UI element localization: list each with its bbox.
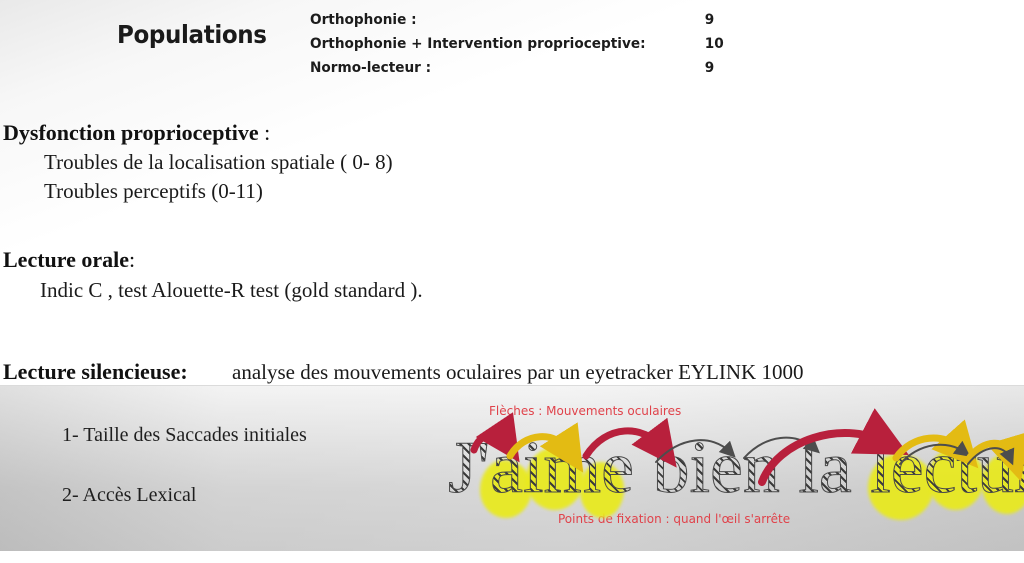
eyetracking-illustration: J'aime bien la lecture J'aime bien la le… [448, 418, 1024, 518]
population-label: Orthophonie : [310, 8, 417, 32]
population-value: 9 [705, 8, 714, 32]
section-heading-dysfonction: Dysfonction proprioceptive : [3, 120, 270, 146]
saccade-arrow-red [586, 431, 662, 456]
population-value: 10 [705, 32, 724, 56]
populations-table: Orthophonie : 9 Orthophonie + Interventi… [310, 8, 646, 80]
annotation-saccades: Flèches : Mouvements oculaires [489, 403, 681, 418]
list-item: Troubles de la localisation spatiale ( 0… [44, 150, 393, 175]
table-row: Normo-lecteur : 9 [310, 56, 646, 80]
list-item: Troubles perceptifs (0-11) [44, 179, 263, 204]
table-row: Orthophonie + Intervention proprioceptiv… [310, 32, 646, 56]
population-value: 9 [705, 56, 714, 80]
slide-canvas: Populations Orthophonie : 9 Orthophonie … [0, 0, 1024, 563]
saccade-arrows-layer [448, 418, 1024, 518]
list-item: Indic C , test Alouette-R test (gold sta… [40, 278, 423, 303]
section-heading-lecture-silencieuse: Lecture silencieuse: [3, 359, 188, 385]
section-heading-suffix: : [259, 120, 271, 145]
saccade-arrow-red [762, 433, 884, 482]
section-heading-lecture-orale: Lecture orale: [3, 247, 135, 273]
population-label: Normo-lecteur : [310, 56, 431, 80]
footer-strip [0, 551, 1024, 563]
saccade-arrow-gray [656, 440, 730, 462]
population-label: Orthophonie + Intervention proprioceptiv… [310, 32, 646, 56]
table-row: Orthophonie : 9 [310, 8, 646, 32]
silent-reading-description: analyse des mouvements oculaires par un … [232, 360, 803, 385]
measure-item-2: 2- Accès Lexical [62, 484, 196, 507]
section-heading-text: Lecture orale [3, 247, 129, 272]
measure-item-1: 1- Taille des Saccades initiales [62, 424, 307, 447]
section-heading-text: Dysfonction proprioceptive [3, 120, 259, 145]
section-heading-suffix: : [129, 247, 135, 272]
page-title: Populations [117, 20, 267, 49]
saccade-arrow-gold [510, 437, 570, 456]
saccade-arrow-red [474, 434, 506, 450]
saccade-arrow-gold [896, 438, 962, 458]
background-seam [0, 385, 1024, 386]
